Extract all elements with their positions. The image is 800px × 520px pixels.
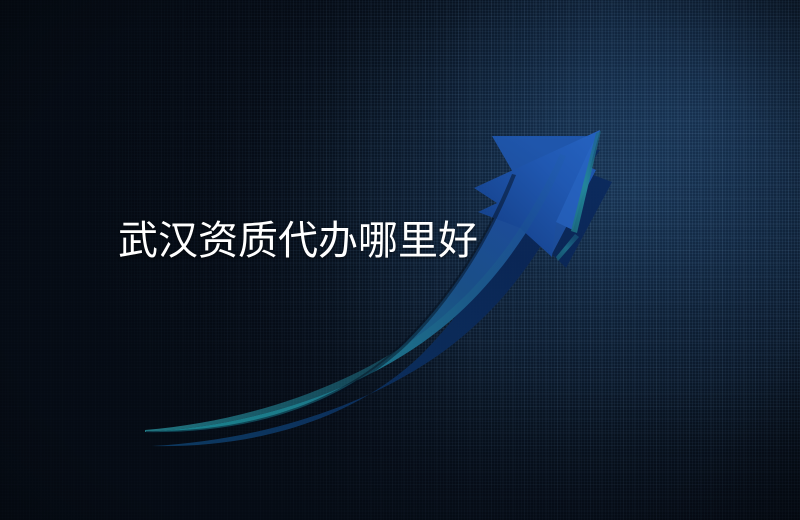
banner-canvas: 武汉资质代办哪里好: [0, 0, 800, 520]
page-title: 武汉资质代办哪里好: [118, 219, 478, 263]
